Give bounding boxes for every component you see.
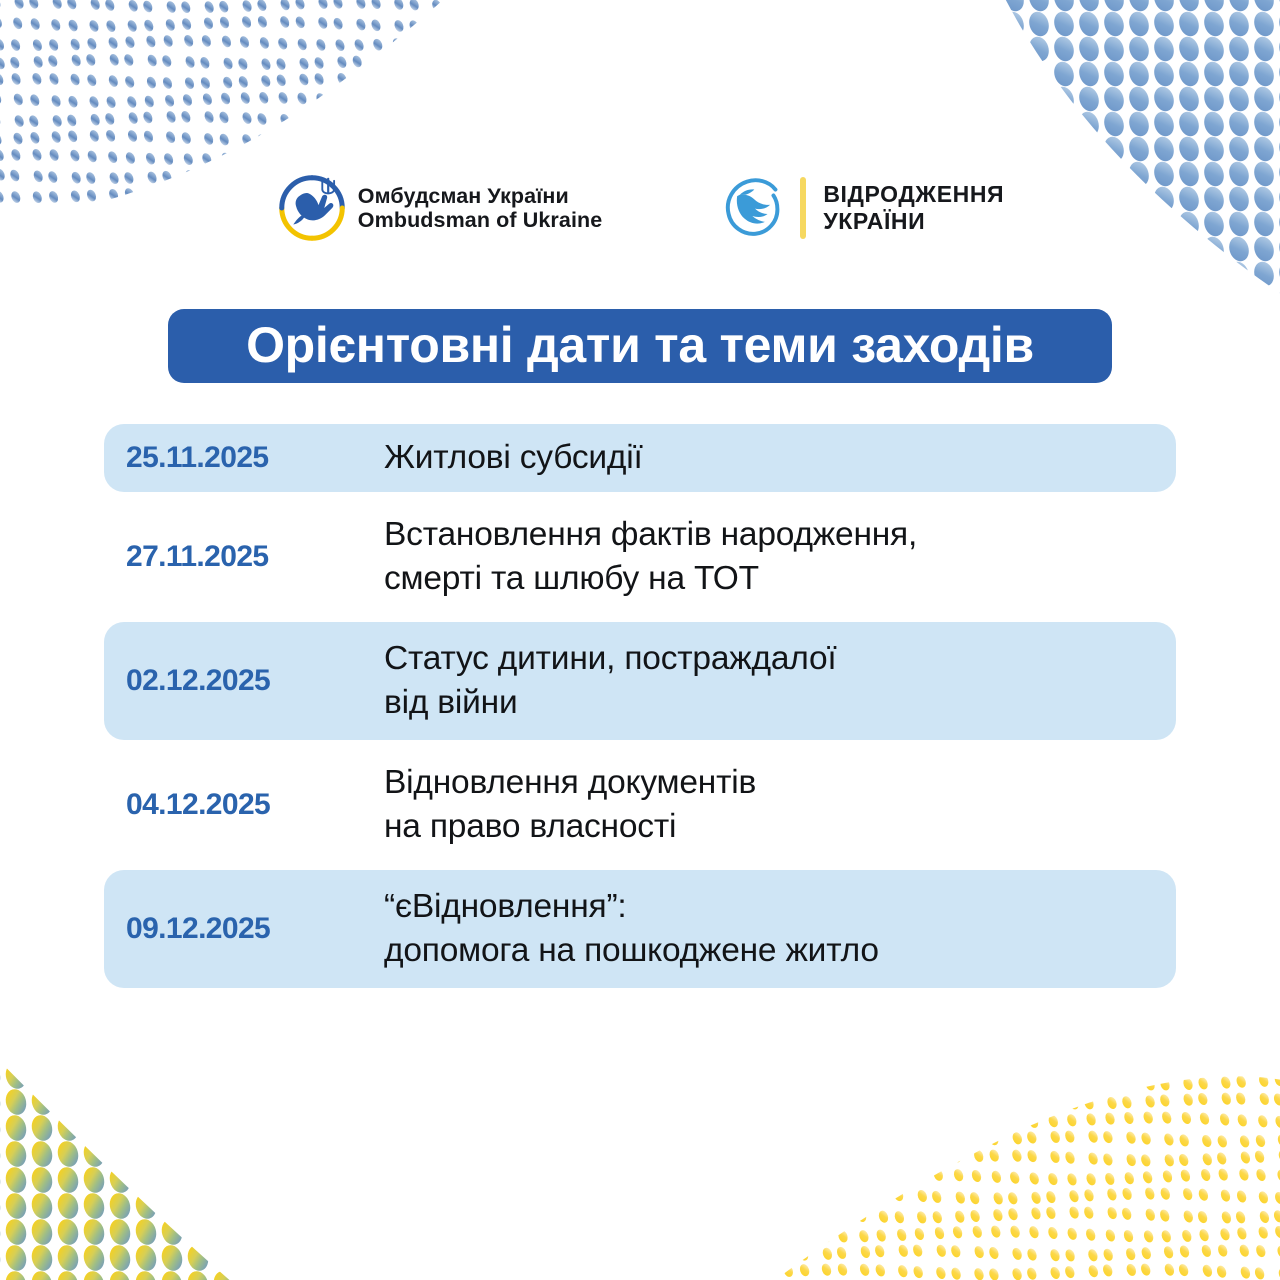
vidrodzhennia-logo-line-1: ВІДРОДЖЕННЯ (823, 181, 1004, 208)
vidrodzhennia-logo-text: ВІДРОДЖЕННЯ УКРАЇНИ (823, 181, 1004, 235)
schedule-row-topic-line: смерті та шлюбу на ТОТ (384, 557, 1176, 601)
schedule-row[interactable]: 09.12.2025“єВідновлення”:допомога на пош… (104, 870, 1176, 988)
schedule-row[interactable]: 02.12.2025Статус дитини, постраждалоївід… (104, 622, 1176, 740)
phoenix-bird-circle-icon (720, 175, 786, 241)
ombudsman-logo-line-en: Ombudsman of Ukraine (358, 208, 603, 233)
schedule-row-date: 09.12.2025 (126, 912, 384, 946)
schedule-row-topic-line: на право власності (384, 805, 1176, 849)
schedule-row[interactable]: 25.11.2025Житлові субсидії (104, 424, 1176, 492)
page-title-banner: Орієнтовні дати та теми заходів (168, 309, 1112, 383)
schedule-row-topic: Статус дитини, постраждалоївід війни (384, 637, 1176, 724)
schedule-row-topic-line: допомога на пошкоджене житло (384, 929, 1176, 973)
ombudsman-logo[interactable]: Омбудсман України Ombudsman of Ukraine (276, 172, 603, 244)
ombudsman-logo-text: Омбудсман України Ombudsman of Ukraine (358, 184, 603, 233)
vidrodzhennia-logo[interactable]: ВІДРОДЖЕННЯ УКРАЇНИ (720, 175, 1004, 241)
schedule-row-topic: Житлові субсидії (384, 436, 1176, 480)
schedule-row-topic-line: від війни (384, 681, 1176, 725)
schedule-row-date: 02.12.2025 (126, 664, 384, 698)
page-title: Орієнтовні дати та теми заходів (246, 320, 1034, 370)
schedule-row-topic-line: Відновлення документів (384, 761, 1176, 805)
schedule-row-date: 27.11.2025 (126, 540, 384, 574)
schedule-list: 25.11.2025Житлові субсидії27.11.2025Вста… (104, 424, 1176, 994)
schedule-row-date: 25.11.2025 (126, 441, 384, 475)
ombudsman-hand-dove-icon (276, 172, 348, 244)
logo-bar: Омбудсман України Ombudsman of Ukraine В… (0, 162, 1280, 254)
schedule-row-topic-line: Статус дитини, постраждалої (384, 637, 1176, 681)
schedule-row-topic: Встановлення фактів народження,смерті та… (384, 513, 1176, 600)
dot-wave-pattern-icon (700, 1050, 1280, 1280)
schedule-row[interactable]: 04.12.2025Відновлення документівна право… (104, 746, 1176, 864)
dot-grid-gradient-icon (960, 0, 1280, 300)
schedule-row-topic: Відновлення документівна право власності (384, 761, 1176, 848)
schedule-row-topic-line: Житлові субсидії (384, 436, 1176, 480)
schedule-row[interactable]: 27.11.2025Встановлення фактів народження… (104, 498, 1176, 616)
schedule-row-topic: “єВідновлення”:допомога на пошкоджене жи… (384, 885, 1176, 972)
schedule-row-topic-line: Встановлення фактів народження, (384, 513, 1176, 557)
yellow-divider-bar (800, 177, 806, 239)
ombudsman-logo-line-uk: Омбудсман України (358, 184, 603, 209)
schedule-row-topic-line: “єВідновлення”: (384, 885, 1176, 929)
schedule-row-date: 04.12.2025 (126, 788, 384, 822)
poster-canvas: Омбудсман України Ombudsman of Ukraine В… (0, 0, 1280, 1280)
vidrodzhennia-logo-line-2: УКРАЇНИ (823, 208, 1004, 235)
